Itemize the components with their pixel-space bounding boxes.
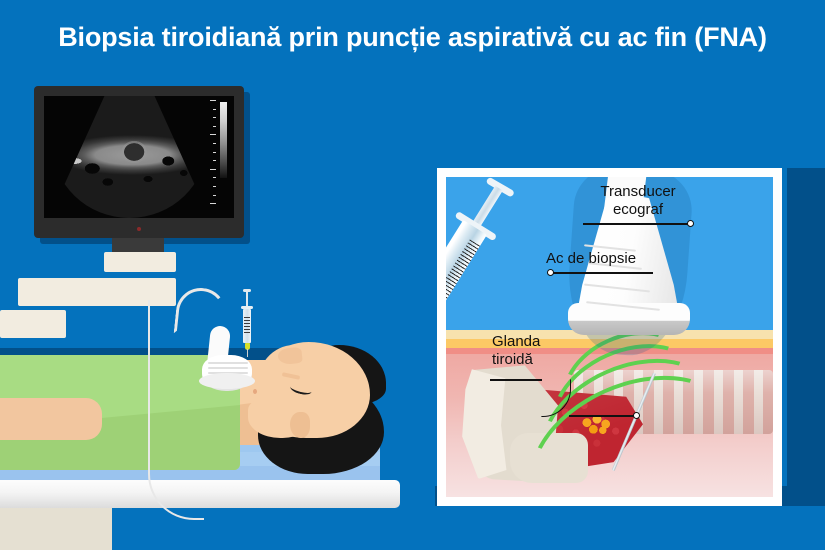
cart-shelf-top [104, 252, 176, 272]
label-gland-line1: Glanda [492, 333, 582, 351]
syringe-needle [247, 349, 248, 357]
neck-probe-footprint [199, 373, 255, 389]
patient-neck-mark [253, 389, 257, 394]
label-transducer-line2: ecograf [583, 201, 693, 219]
syringe-scale-marks [244, 317, 250, 335]
ultrasound-screen [44, 96, 234, 218]
inset-transducer-grip-lines [584, 231, 676, 311]
leader-line-gland [490, 379, 542, 381]
page-title: Biopsia tiroidiană prin puncție aspirati… [0, 22, 825, 53]
leader-dot-gland [633, 412, 640, 419]
exam-table-base [0, 508, 112, 550]
neck-syringe [241, 289, 253, 355]
patient-arm [0, 398, 102, 440]
label-transducer-line1: Transducer [583, 183, 693, 201]
label-needle: Ac de biopsie [546, 250, 636, 268]
monitor-power-led [137, 227, 141, 231]
syringe-plunger-rod [246, 291, 248, 307]
inset-frame [437, 168, 782, 506]
illustration-canvas: Biopsia tiroidiană prin puncție aspirati… [0, 0, 825, 550]
ultrasound-depth-ticks [209, 100, 216, 212]
accent-bar-right [787, 168, 825, 506]
label-gland: Glanda tiroidă [492, 333, 582, 368]
leader-line-needle [553, 272, 653, 274]
leader-line-gland-2 [569, 415, 635, 417]
leader-line-transducer [583, 223, 689, 225]
patient-ear [290, 412, 310, 438]
cart-shelf-lower [0, 310, 66, 338]
ultrasound-grayscale-bar [220, 102, 227, 178]
leader-dot-transducer [687, 220, 694, 227]
label-gland-line2: tiroidă [492, 351, 582, 369]
ultrasound-scan-detail [52, 96, 207, 218]
label-transducer: Transducer ecograf [583, 183, 693, 218]
leader-dot-needle [547, 269, 554, 276]
